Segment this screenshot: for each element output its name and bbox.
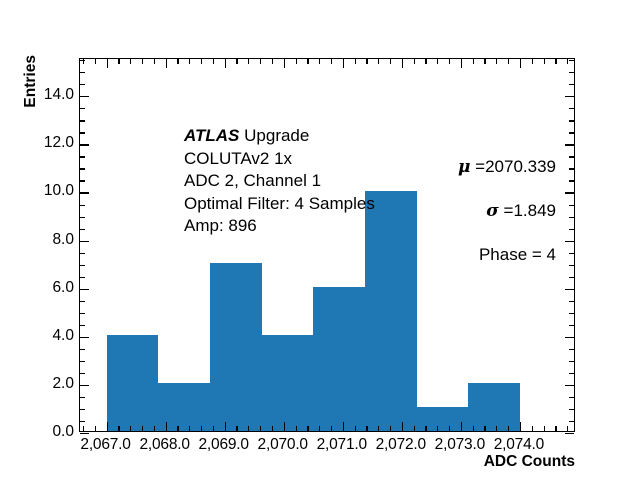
y-minor-tick-right bbox=[569, 421, 574, 422]
x-minor-tick-top bbox=[272, 59, 273, 64]
x-major-tick-top bbox=[343, 59, 344, 68]
y-minor-tick-right bbox=[569, 108, 574, 109]
x-minor-tick bbox=[272, 426, 273, 431]
y-minor-tick bbox=[80, 313, 85, 314]
y-minor-tick bbox=[80, 349, 85, 350]
y-axis-title: Entries bbox=[22, 55, 40, 108]
atlas-suffix: Upgrade bbox=[239, 126, 309, 145]
atlas-tag: ATLAS bbox=[184, 126, 239, 145]
y-minor-tick-right bbox=[569, 253, 574, 254]
x-minor-tick bbox=[177, 426, 178, 431]
annotation-line-amp: Amp: 896 bbox=[184, 215, 375, 238]
y-minor-tick-right bbox=[569, 72, 574, 73]
y-minor-tick bbox=[80, 72, 85, 73]
y-minor-tick-right bbox=[569, 409, 574, 410]
y-tick-label: 4.0 bbox=[52, 327, 74, 345]
y-minor-tick bbox=[80, 217, 85, 218]
statistic-symbol: Phase bbox=[479, 245, 527, 264]
y-minor-tick-right bbox=[569, 60, 574, 61]
y-major-tick-right bbox=[565, 433, 574, 434]
x-major-tick bbox=[225, 422, 226, 431]
x-minor-tick-top bbox=[248, 59, 249, 64]
x-minor-tick bbox=[307, 426, 308, 431]
x-minor-tick-top bbox=[95, 59, 96, 64]
y-major-tick-right bbox=[565, 144, 574, 145]
histogram-bar bbox=[262, 335, 314, 431]
x-major-tick-top bbox=[166, 59, 167, 68]
y-minor-tick-right bbox=[569, 265, 574, 266]
x-minor-tick-top bbox=[130, 59, 131, 64]
x-minor-tick-top bbox=[260, 59, 261, 64]
y-major-tick bbox=[80, 433, 89, 434]
x-axis-title: ADC Counts bbox=[484, 453, 575, 471]
y-major-tick-right bbox=[565, 96, 574, 97]
x-minor-tick bbox=[296, 426, 297, 431]
x-minor-tick-top bbox=[378, 59, 379, 64]
y-minor-tick-right bbox=[569, 361, 574, 362]
y-tick-label: 14.0 bbox=[44, 86, 74, 104]
x-minor-tick bbox=[366, 426, 367, 431]
x-minor-tick-top bbox=[473, 59, 474, 64]
statistic-line: σ =1.849 bbox=[458, 201, 556, 221]
statistic-line: Phase = 4 bbox=[458, 245, 556, 265]
x-minor-tick bbox=[508, 426, 509, 431]
histogram-bar bbox=[210, 263, 262, 431]
y-major-tick bbox=[80, 289, 89, 290]
y-minor-tick bbox=[80, 253, 85, 254]
y-minor-tick bbox=[80, 180, 85, 181]
x-minor-tick-top bbox=[414, 59, 415, 64]
x-minor-tick-top bbox=[213, 59, 214, 64]
y-minor-tick bbox=[80, 409, 85, 410]
y-minor-tick-right bbox=[569, 217, 574, 218]
y-minor-tick bbox=[80, 421, 85, 422]
y-minor-tick bbox=[80, 108, 85, 109]
y-minor-tick bbox=[80, 120, 85, 121]
statistic-value: 1.849 bbox=[513, 201, 556, 220]
x-minor-tick-top bbox=[532, 59, 533, 64]
x-minor-tick-top bbox=[331, 59, 332, 64]
y-minor-tick-right bbox=[569, 84, 574, 85]
x-minor-tick-top bbox=[154, 59, 155, 64]
x-minor-tick bbox=[496, 426, 497, 431]
x-minor-tick-top bbox=[201, 59, 202, 64]
x-minor-tick-top bbox=[307, 59, 308, 64]
y-minor-tick bbox=[80, 265, 85, 266]
y-minor-tick-right bbox=[569, 373, 574, 374]
x-minor-tick-top bbox=[189, 59, 190, 64]
y-major-tick-right bbox=[565, 192, 574, 193]
y-major-tick bbox=[80, 337, 89, 338]
x-minor-tick bbox=[154, 426, 155, 431]
statistic-symbol: μ bbox=[458, 157, 470, 177]
x-tick-label: 2,071.0 bbox=[317, 436, 367, 454]
histogram-bar bbox=[107, 335, 159, 431]
x-major-tick-top bbox=[284, 59, 285, 68]
statistic-value: 4 bbox=[547, 245, 556, 264]
y-minor-tick-right bbox=[569, 349, 574, 350]
y-minor-tick-right bbox=[569, 120, 574, 121]
y-minor-tick bbox=[80, 301, 85, 302]
x-minor-tick-top bbox=[366, 59, 367, 64]
y-tick-label: 12.0 bbox=[44, 134, 74, 152]
y-minor-tick-right bbox=[569, 229, 574, 230]
x-major-tick-top bbox=[461, 59, 462, 68]
x-minor-tick bbox=[201, 426, 202, 431]
statistic-separator: = bbox=[527, 245, 546, 264]
x-minor-tick-top bbox=[425, 59, 426, 64]
y-minor-tick bbox=[80, 168, 85, 169]
x-minor-tick bbox=[532, 426, 533, 431]
x-minor-tick bbox=[378, 426, 379, 431]
y-major-tick-right bbox=[565, 385, 574, 386]
x-minor-tick bbox=[449, 426, 450, 431]
x-major-tick bbox=[107, 422, 108, 431]
annotation-line-optimal-filter: Optimal Filter: 4 Samples bbox=[184, 193, 375, 216]
x-minor-tick bbox=[130, 426, 131, 431]
y-minor-tick-right bbox=[569, 168, 574, 169]
x-major-tick-top bbox=[107, 59, 108, 68]
x-tick-label: 2,068.0 bbox=[139, 436, 189, 454]
x-minor-tick-top bbox=[508, 59, 509, 64]
y-minor-tick bbox=[80, 229, 85, 230]
x-minor-tick-top bbox=[449, 59, 450, 64]
y-tick-label: 0.0 bbox=[52, 423, 74, 441]
x-minor-tick-top bbox=[319, 59, 320, 64]
histogram-bar bbox=[468, 383, 520, 431]
x-minor-tick-top bbox=[544, 59, 545, 64]
y-minor-tick bbox=[80, 277, 85, 278]
x-minor-tick-top bbox=[177, 59, 178, 64]
y-tick-label: 10.0 bbox=[44, 182, 74, 200]
y-major-tick-right bbox=[565, 289, 574, 290]
y-minor-tick bbox=[80, 361, 85, 362]
y-minor-tick-right bbox=[569, 277, 574, 278]
x-minor-tick-top bbox=[390, 59, 391, 64]
annotation-line-colutav2: COLUTAv2 1x bbox=[184, 148, 375, 171]
x-minor-tick-top bbox=[236, 59, 237, 64]
x-minor-tick bbox=[213, 426, 214, 431]
x-major-tick bbox=[166, 422, 167, 431]
y-minor-tick bbox=[80, 156, 85, 157]
y-minor-tick bbox=[80, 84, 85, 85]
statistics-block: μ =2070.339σ =1.849Phase = 4 bbox=[458, 157, 556, 265]
annotation-line-adc-channel: ADC 2, Channel 1 bbox=[184, 170, 375, 193]
x-major-tick bbox=[461, 422, 462, 431]
plot-frame: ATLAS Upgrade COLUTAv2 1x ADC 2, Channel… bbox=[79, 58, 575, 432]
x-minor-tick bbox=[544, 426, 545, 431]
x-tick-label: 2,073.0 bbox=[435, 436, 485, 454]
x-minor-tick-top bbox=[484, 59, 485, 64]
x-minor-tick-top bbox=[142, 59, 143, 64]
y-minor-tick bbox=[80, 60, 85, 61]
x-minor-tick-top bbox=[355, 59, 356, 64]
x-tick-label: 2,074.0 bbox=[494, 436, 544, 454]
x-tick-label: 2,069.0 bbox=[198, 436, 248, 454]
x-minor-tick bbox=[355, 426, 356, 431]
x-minor-tick bbox=[189, 426, 190, 431]
x-minor-tick bbox=[118, 426, 119, 431]
x-minor-tick bbox=[319, 426, 320, 431]
y-minor-tick bbox=[80, 205, 85, 206]
y-minor-tick-right bbox=[569, 325, 574, 326]
x-minor-tick bbox=[390, 426, 391, 431]
y-minor-tick-right bbox=[569, 156, 574, 157]
x-major-tick-top bbox=[402, 59, 403, 68]
y-minor-tick-right bbox=[569, 180, 574, 181]
y-major-tick bbox=[80, 144, 89, 145]
x-minor-tick bbox=[473, 426, 474, 431]
statistic-value: 2070.339 bbox=[485, 157, 556, 176]
statistic-line: μ =2070.339 bbox=[458, 157, 556, 177]
x-tick-label: 2,070.0 bbox=[258, 436, 308, 454]
x-minor-tick bbox=[414, 426, 415, 431]
x-minor-tick bbox=[567, 426, 568, 431]
statistic-separator: = bbox=[499, 201, 514, 220]
y-minor-tick bbox=[80, 373, 85, 374]
atlas-annotation-block: ATLAS Upgrade COLUTAv2 1x ADC 2, Channel… bbox=[184, 125, 375, 238]
x-minor-tick-top bbox=[437, 59, 438, 64]
histogram-bar bbox=[313, 287, 365, 431]
x-minor-tick bbox=[236, 426, 237, 431]
y-major-tick bbox=[80, 96, 89, 97]
statistic-separator: = bbox=[470, 157, 485, 176]
y-major-tick-right bbox=[565, 241, 574, 242]
x-major-tick-top bbox=[225, 59, 226, 68]
x-minor-tick bbox=[555, 426, 556, 431]
x-minor-tick bbox=[484, 426, 485, 431]
x-minor-tick-top bbox=[555, 59, 556, 64]
x-minor-tick bbox=[425, 426, 426, 431]
y-minor-tick-right bbox=[569, 205, 574, 206]
figure-canvas: Entries ADC Counts 2,067.02,068.02,069.0… bbox=[0, 0, 640, 480]
y-minor-tick-right bbox=[569, 132, 574, 133]
y-major-tick bbox=[80, 192, 89, 193]
x-tick-label: 2,067.0 bbox=[80, 436, 130, 454]
x-minor-tick bbox=[331, 426, 332, 431]
y-minor-tick bbox=[80, 397, 85, 398]
x-minor-tick bbox=[248, 426, 249, 431]
y-minor-tick-right bbox=[569, 313, 574, 314]
y-minor-tick-right bbox=[569, 397, 574, 398]
y-minor-tick bbox=[80, 325, 85, 326]
x-major-tick-top bbox=[520, 59, 521, 68]
x-minor-tick bbox=[437, 426, 438, 431]
x-minor-tick-top bbox=[296, 59, 297, 64]
x-minor-tick-top bbox=[118, 59, 119, 64]
atlas-label-line: ATLAS Upgrade bbox=[184, 125, 375, 148]
statistic-symbol: σ bbox=[486, 201, 499, 221]
x-minor-tick bbox=[260, 426, 261, 431]
y-minor-tick-right bbox=[569, 301, 574, 302]
y-minor-tick bbox=[80, 132, 85, 133]
x-major-tick bbox=[343, 422, 344, 431]
x-tick-label: 2,072.0 bbox=[376, 436, 426, 454]
x-minor-tick bbox=[95, 426, 96, 431]
y-tick-label: 2.0 bbox=[52, 375, 74, 393]
x-major-tick bbox=[284, 422, 285, 431]
x-minor-tick bbox=[142, 426, 143, 431]
y-tick-label: 6.0 bbox=[52, 279, 74, 297]
x-minor-tick-top bbox=[496, 59, 497, 64]
y-major-tick bbox=[80, 241, 89, 242]
x-major-tick bbox=[520, 422, 521, 431]
x-minor-tick bbox=[83, 426, 84, 431]
x-major-tick bbox=[402, 422, 403, 431]
y-major-tick bbox=[80, 385, 89, 386]
y-tick-label: 8.0 bbox=[52, 231, 74, 249]
y-major-tick-right bbox=[565, 337, 574, 338]
